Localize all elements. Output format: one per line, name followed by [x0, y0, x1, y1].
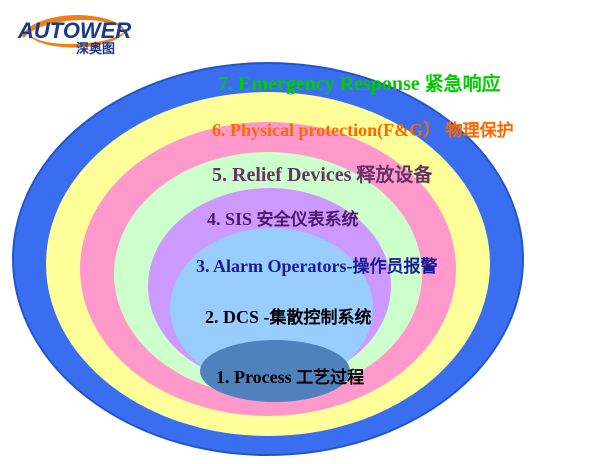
layer-label-3-en: 3. Alarm Operators-: [196, 256, 352, 276]
layer-label-7: 7. Emergency Response 紧急响应: [218, 74, 501, 94]
layer-label-5-zh: 释放设备: [356, 164, 432, 186]
logo-chinese-text: 深奥图: [76, 41, 115, 56]
layer-label-1-en: 1. Process: [216, 367, 292, 387]
layer-label-5-en: 5. Relief Devices: [212, 164, 351, 186]
layer-label-3: 3. Alarm Operators-操作员报警: [196, 257, 437, 276]
layer-label-1: 1. Process 工艺过程: [216, 368, 364, 387]
layer-label-6: 6. Physical protection(F&G） 物理保护: [212, 121, 514, 140]
layer-label-2-en: 2. DCS -: [205, 307, 270, 327]
layer-label-4-en: 4. SIS: [207, 209, 252, 229]
layer-label-5: 5. Relief Devices 释放设备: [212, 165, 432, 185]
logo-wordmark: AUTOWER: [17, 18, 131, 43]
layer-label-4: 4. SIS 安全仪表系统: [207, 210, 359, 229]
safety-onion-diagram: [0, 0, 600, 464]
layer-label-3-zh: 操作员报警: [352, 257, 437, 277]
layer-label-6-en: 6. Physical protection(F&G）: [212, 120, 441, 140]
layer-label-2-zh: 集散控制系统: [270, 308, 372, 328]
layer-label-6-zh: 物理保护: [446, 121, 514, 141]
autower-logo: AUTOWER 深奥图: [14, 8, 144, 56]
layer-label-7-en: 7. Emergency Response: [218, 73, 420, 95]
layer-label-1-zh: 工艺过程: [296, 368, 364, 388]
layer-label-4-zh: 安全仪表系统: [257, 210, 359, 230]
layer-label-7-zh: 紧急响应: [425, 73, 501, 95]
layer-label-2: 2. DCS -集散控制系统: [205, 308, 372, 327]
